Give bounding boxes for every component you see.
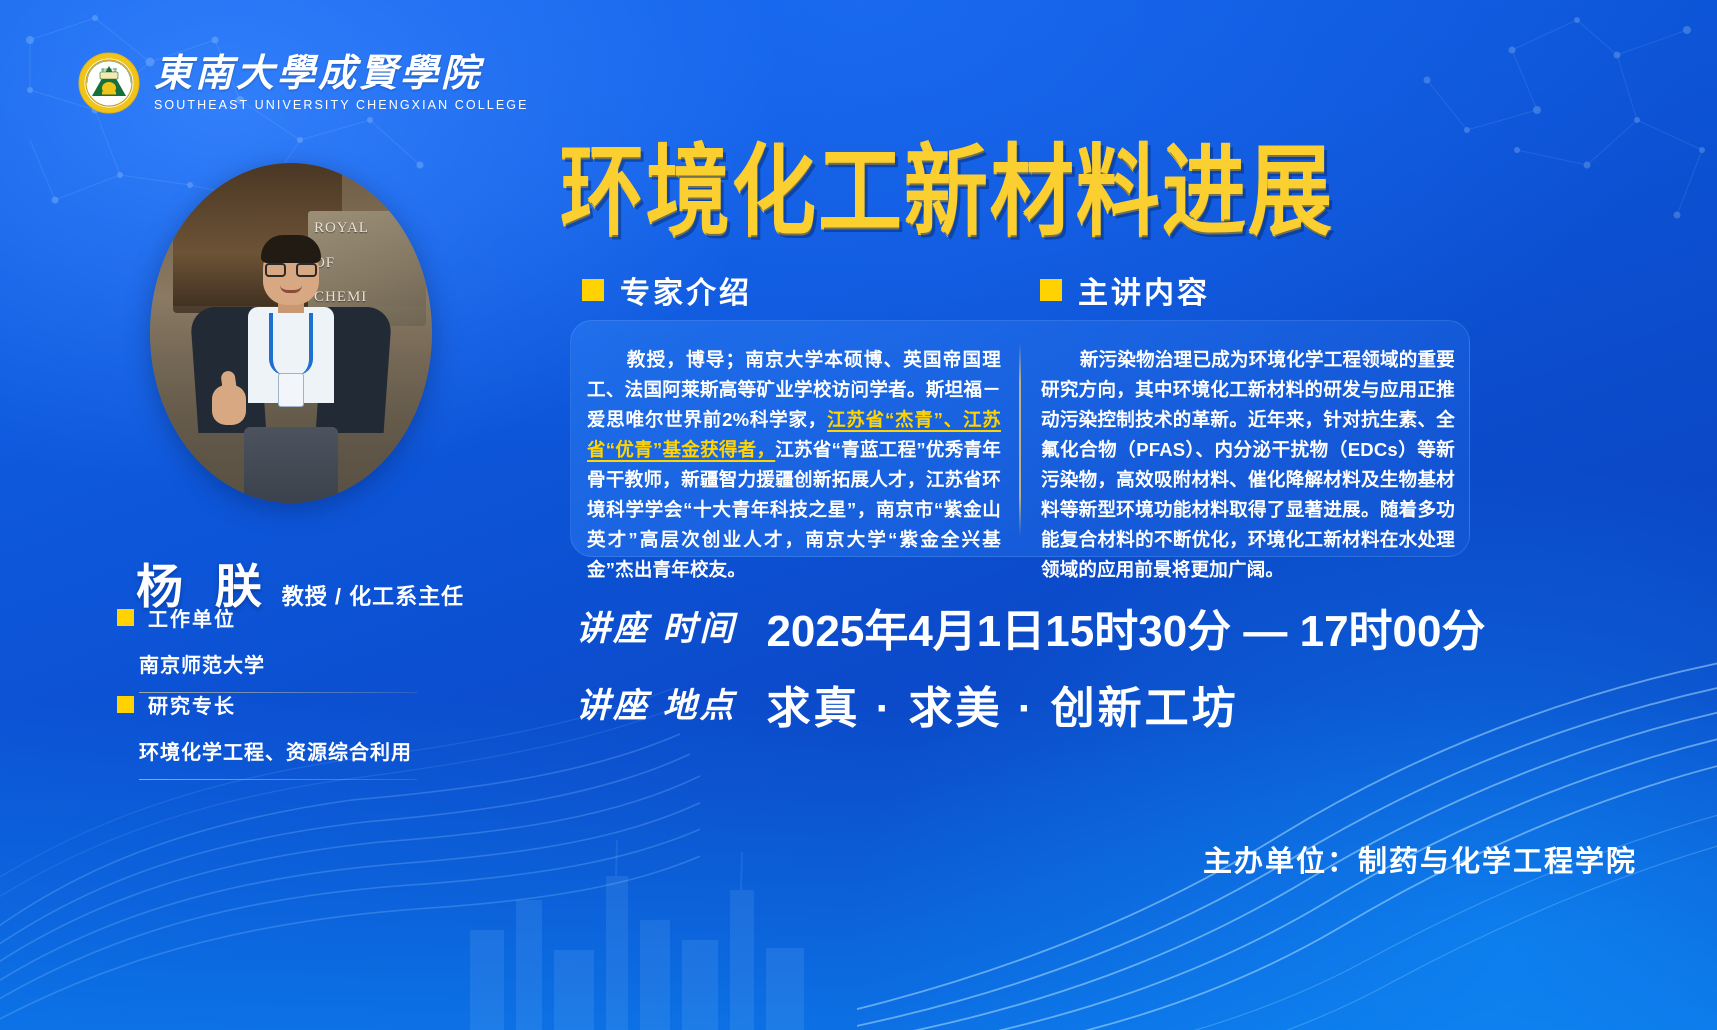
section-header-expert: 专家介绍 bbox=[582, 268, 752, 312]
place-value: 求真 · 求美 · 创新工坊 bbox=[766, 672, 1238, 736]
section-title-expert: 专家介绍 bbox=[620, 268, 752, 312]
university-seal-icon: 東南大學 bbox=[78, 52, 140, 114]
city-skyline-icon bbox=[430, 780, 850, 1030]
organizer-footer: 主办单位：制药与化学工程学院 bbox=[1203, 838, 1637, 880]
organization-label: 工作单位 bbox=[148, 603, 236, 632]
field-expertise: 研究专长 环境化学工程、资源综合利用 bbox=[117, 690, 417, 780]
university-logo: 東南大學 東南大學成賢學院 SOUTHEAST UNIVERSITY CHENG… bbox=[78, 52, 529, 114]
organization-value: 南京师范大学 bbox=[139, 649, 417, 678]
svg-text:東南大學: 東南大學 bbox=[101, 67, 117, 73]
square-bullet-icon bbox=[117, 696, 134, 713]
time-label: 讲座 时间 bbox=[570, 601, 744, 654]
logo-chinese-name: 東南大學成賢學院 bbox=[154, 55, 529, 93]
card-divider bbox=[1019, 343, 1021, 536]
expert-bio-part2: 江苏省“青蓝工程”优秀青年骨干教师，新疆智力援疆创新拓展人才，江苏省环境科学学会… bbox=[587, 439, 1001, 580]
square-bullet-icon bbox=[1040, 279, 1062, 301]
expert-bio-text: 教授，博导；南京大学本硕博、英国帝国理工、法国阿莱斯高等矿业学校访问学者。斯坦福… bbox=[587, 345, 1001, 541]
logo-english-name: SOUTHEAST UNIVERSITY CHENGXIAN COLLEGE bbox=[154, 99, 529, 112]
schedule-time-row: 讲座 时间 2025年4月1日15时30分 — 17时00分 bbox=[570, 595, 1486, 659]
expertise-value: 环境化学工程、资源综合利用 bbox=[139, 736, 417, 765]
lecture-content-body: 新污染物治理已成为环境化学工程领域的重要研究方向，其中环境化工新材料的研发与应用… bbox=[1041, 349, 1455, 580]
poster-canvas: 東南大學 東南大學成賢學院 SOUTHEAST UNIVERSITY CHENG… bbox=[0, 0, 1717, 1030]
speaker-photo: ROYAL OF CHEMI bbox=[150, 163, 432, 503]
schedule-place-row: 讲座 地点 求真 · 求美 · 创新工坊 bbox=[570, 672, 1239, 736]
place-label: 讲座 地点 bbox=[570, 678, 744, 731]
time-value: 2025年4月1日15时30分 — 17时00分 bbox=[766, 595, 1485, 659]
square-bullet-icon bbox=[582, 279, 604, 301]
square-bullet-icon bbox=[117, 609, 134, 626]
page-title: 环境化工新材料进展 bbox=[560, 112, 1600, 255]
expertise-label: 研究专长 bbox=[148, 690, 236, 719]
field-organization: 工作单位 南京师范大学 bbox=[117, 603, 417, 693]
info-card: 教授，博导；南京大学本硕博、英国帝国理工、法国阿莱斯高等矿业学校访问学者。斯坦福… bbox=[570, 320, 1470, 557]
field-divider bbox=[139, 779, 417, 780]
section-title-content: 主讲内容 bbox=[1078, 268, 1210, 312]
section-header-content: 主讲内容 bbox=[1040, 268, 1210, 312]
lecture-content-text: 新污染物治理已成为环境化学工程领域的重要研究方向，其中环境化工新材料的研发与应用… bbox=[1041, 345, 1455, 541]
